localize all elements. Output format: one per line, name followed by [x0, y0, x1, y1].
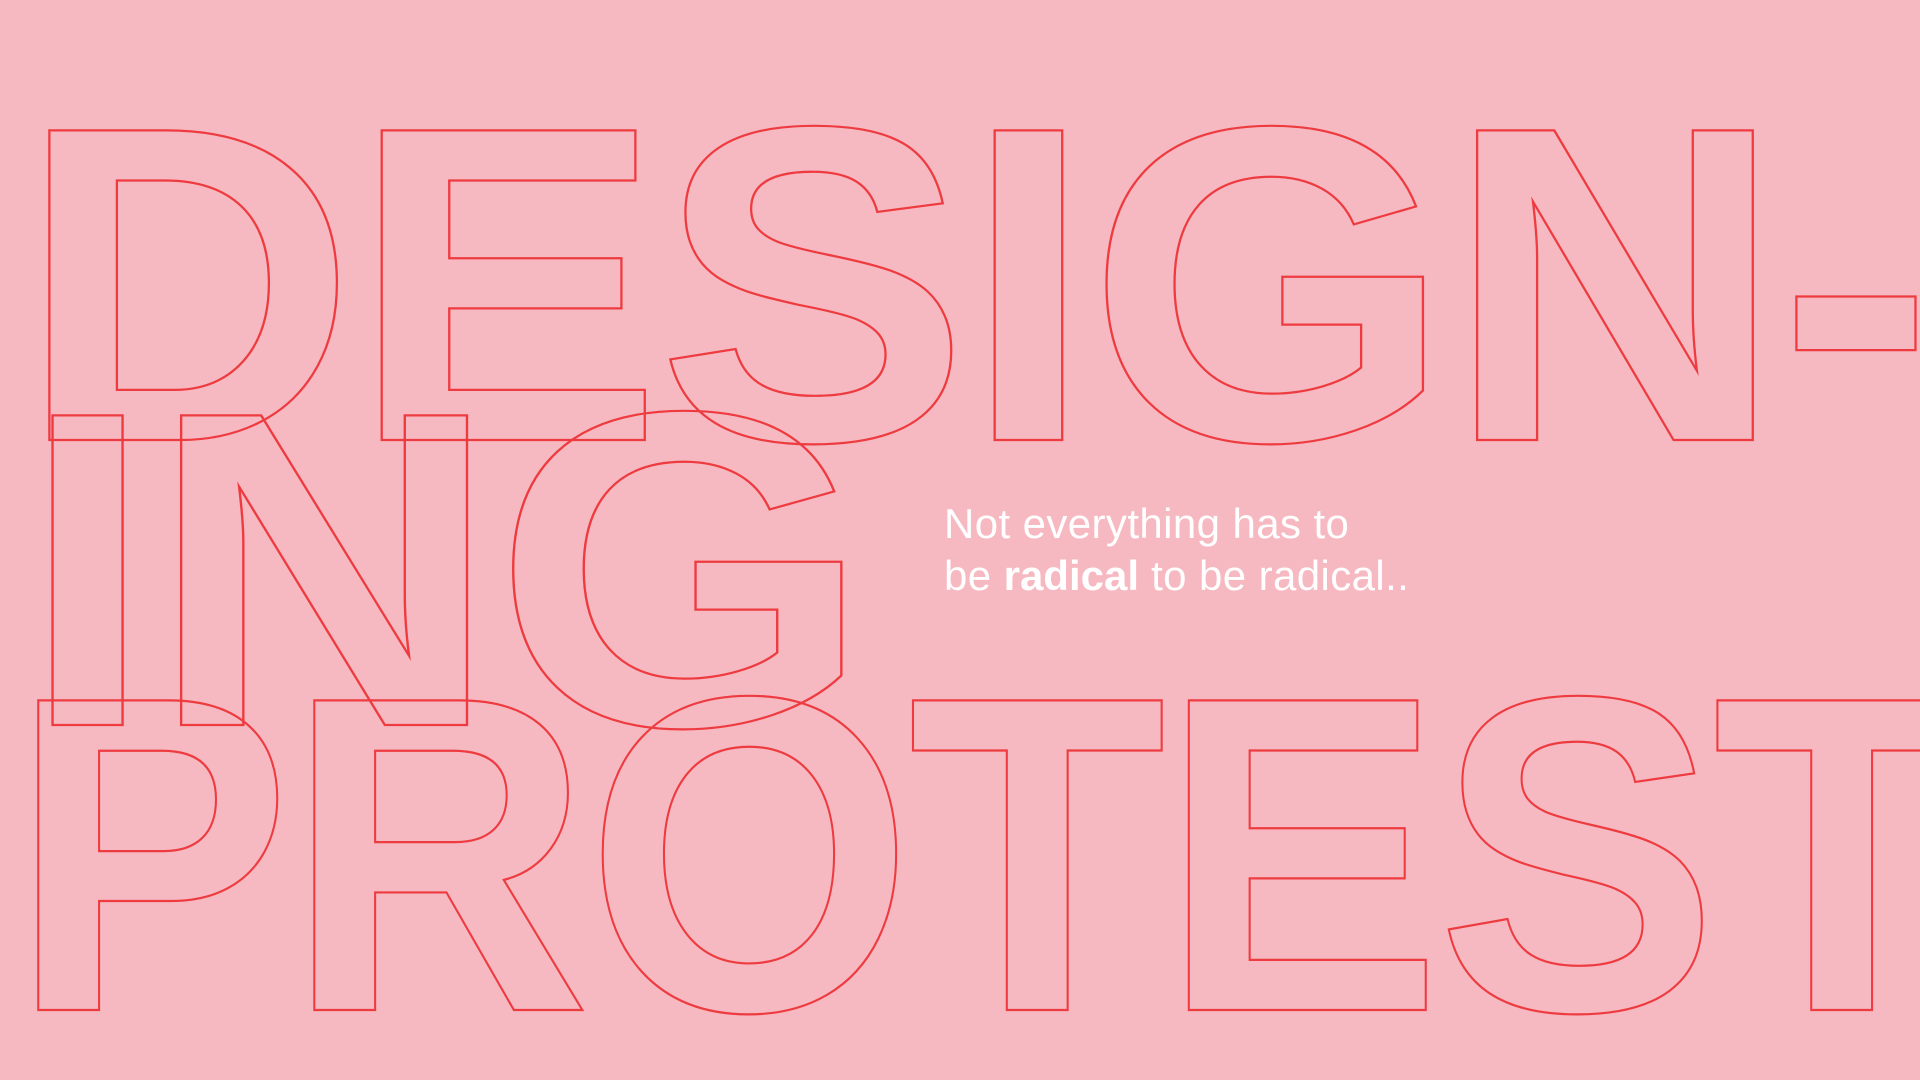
display-word-protest: PROTEST [10, 604, 1920, 1080]
display-word-designhyphen: DESIGN- [18, 34, 1920, 536]
display-word-ing: ING [20, 319, 865, 821]
poster-canvas: DESIGN- ING PROTEST Not everything has t… [0, 0, 1920, 1080]
quote-line-2-prefix: be [944, 552, 1004, 599]
quote-line-1: Not everything has to [944, 498, 1584, 550]
quote-line-2: be radical to be radical.. [944, 550, 1584, 602]
quote-block: Not everything has to be radical to be r… [944, 498, 1584, 602]
quote-line-2-suffix: to be radical.. [1139, 552, 1409, 599]
quote-emphasis-radical: radical [1004, 552, 1139, 599]
